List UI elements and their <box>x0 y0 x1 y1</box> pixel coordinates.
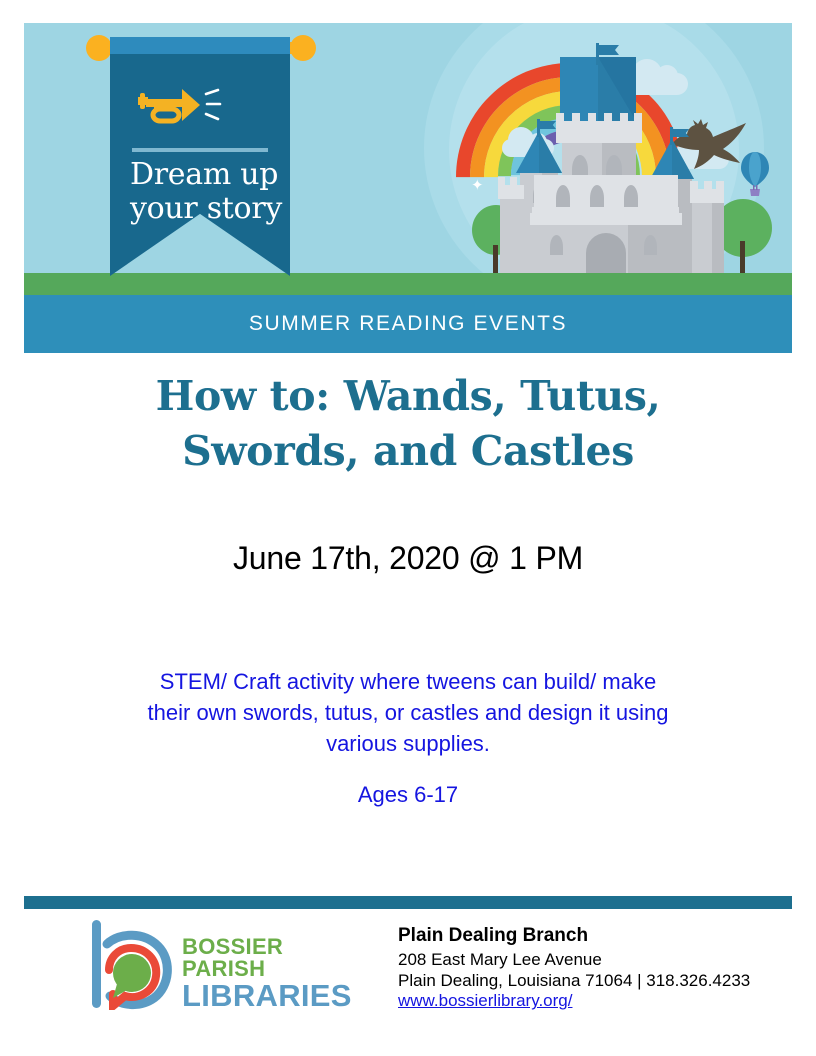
event-ages: Ages 6-17 <box>0 782 816 808</box>
logo-line-bossier-parish: BOSSIER PARISH <box>182 936 372 980</box>
page-title-line2: Swords, and Castles <box>0 424 816 479</box>
event-description: STEM/ Craft activity where tweens can bu… <box>78 666 738 760</box>
summer-reading-events-band: SUMMER READING EVENTS <box>24 295 792 353</box>
library-logo: BOSSIER PARISH LIBRARIES <box>86 918 376 1013</box>
branch-city-phone: Plain Dealing, Louisiana 71064 | 318.326… <box>398 971 798 992</box>
banner-body: Dream up your story <box>110 54 290 276</box>
flag-icon <box>670 127 673 145</box>
event-description-line3: various supplies. <box>78 728 738 759</box>
branch-contact-info: Plain Dealing Branch 208 East Mary Lee A… <box>398 925 798 1011</box>
header-graphic: ✦ ✦ ✦ <box>24 23 792 353</box>
banner-knob-right <box>290 35 316 61</box>
flag-icon <box>596 43 599 65</box>
flag-icon <box>599 45 619 55</box>
castle-icon <box>464 43 754 275</box>
branch-name: Plain Dealing Branch <box>398 925 798 947</box>
event-description-line1: STEM/ Craft activity where tweens can bu… <box>78 666 738 697</box>
banner-divider <box>132 148 268 152</box>
flag-icon <box>537 119 540 137</box>
banner-text: Dream up your story <box>130 158 285 226</box>
banner-text-line2: your story <box>130 192 285 226</box>
dream-up-your-story-banner: Dream up your story <box>86 34 316 284</box>
branch-street: 208 East Mary Lee Avenue <box>398 950 798 971</box>
castle-gate <box>586 233 626 273</box>
footer-divider <box>24 896 792 909</box>
event-date: June 17th, 2020 @ 1 PM <box>0 540 816 577</box>
banner-text-line1: Dream up <box>130 158 285 192</box>
branch-website-link[interactable]: www.bossierlibrary.org/ <box>398 991 572 1011</box>
logo-line-libraries: LIBRARIES <box>182 980 372 1011</box>
bossier-parish-libraries-logo-icon <box>86 918 178 1010</box>
trumpet-icon <box>132 84 224 132</box>
flag-icon <box>673 129 689 137</box>
library-logo-wordmark: BOSSIER PARISH LIBRARIES <box>182 936 372 1011</box>
flag-icon <box>540 121 556 129</box>
summer-reading-events-label: SUMMER READING EVENTS <box>249 312 567 336</box>
page-title: How to: Wands, Tutus, Swords, and Castle… <box>0 369 816 479</box>
banner-knob-left <box>86 35 112 61</box>
event-description-line2: their own swords, tutus, or castles and … <box>78 697 738 728</box>
summer-reading-illustration: ✦ ✦ ✦ <box>24 23 792 295</box>
page-title-line1: How to: Wands, Tutus, <box>0 369 816 424</box>
